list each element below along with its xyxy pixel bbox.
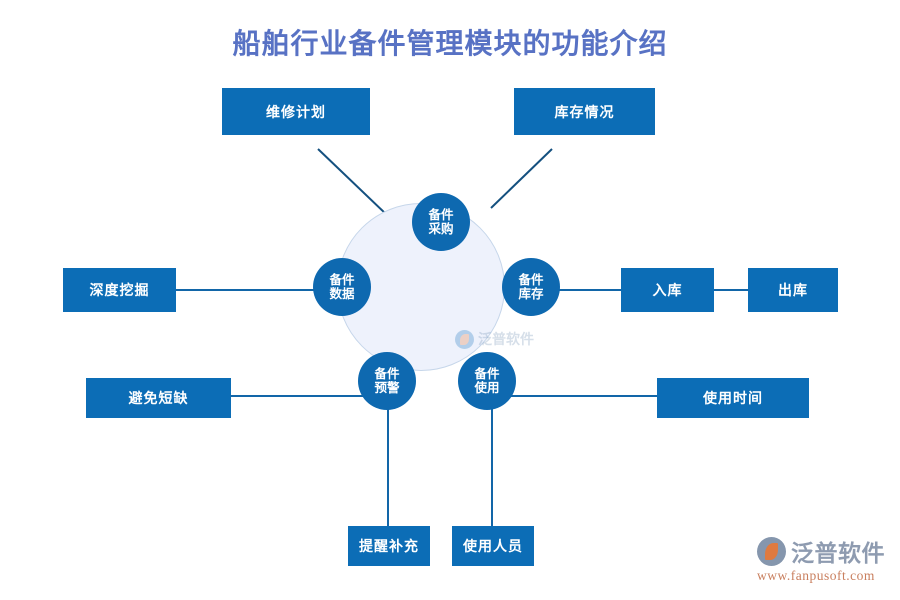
node-label: 备件 数据 xyxy=(329,273,354,301)
box-replenish-reminder[interactable]: 提醒补充 xyxy=(348,526,430,566)
node-spare-part-procurement[interactable]: 备件 采购 xyxy=(412,193,470,251)
brand-row: 泛普软件 xyxy=(757,535,892,567)
box-inventory-status[interactable]: 库存情况 xyxy=(514,88,655,135)
brand-logo: 泛普软件 www.fanpusoft.com xyxy=(757,535,892,590)
box-stock-in[interactable]: 入库 xyxy=(621,268,714,312)
box-stock-out[interactable]: 出库 xyxy=(748,268,838,312)
diagram-canvas: 船舶行业备件管理模块的功能介绍 泛普软件 备件 采购 备件 数据 备件 库存 备… xyxy=(0,0,900,600)
node-spare-part-alert[interactable]: 备件 预警 xyxy=(358,352,416,410)
brand-logo-icon xyxy=(757,537,786,566)
brand-name: 泛普软件 xyxy=(791,534,885,568)
node-spare-part-usage[interactable]: 备件 使用 xyxy=(458,352,516,410)
node-label: 备件 使用 xyxy=(474,367,499,395)
box-deep-mining[interactable]: 深度挖掘 xyxy=(63,268,176,312)
box-usage-time[interactable]: 使用时间 xyxy=(657,378,809,418)
node-spare-part-inventory[interactable]: 备件 库存 xyxy=(502,258,560,316)
node-spare-part-data[interactable]: 备件 数据 xyxy=(313,258,371,316)
node-label: 备件 采购 xyxy=(428,208,453,236)
box-maintenance-plan[interactable]: 维修计划 xyxy=(222,88,370,135)
box-avoid-shortage[interactable]: 避免短缺 xyxy=(86,378,231,418)
box-usage-personnel[interactable]: 使用人员 xyxy=(452,526,534,566)
node-label: 备件 库存 xyxy=(518,273,543,301)
node-label: 备件 预警 xyxy=(374,367,399,395)
brand-url: www.fanpusoft.com xyxy=(757,568,892,584)
